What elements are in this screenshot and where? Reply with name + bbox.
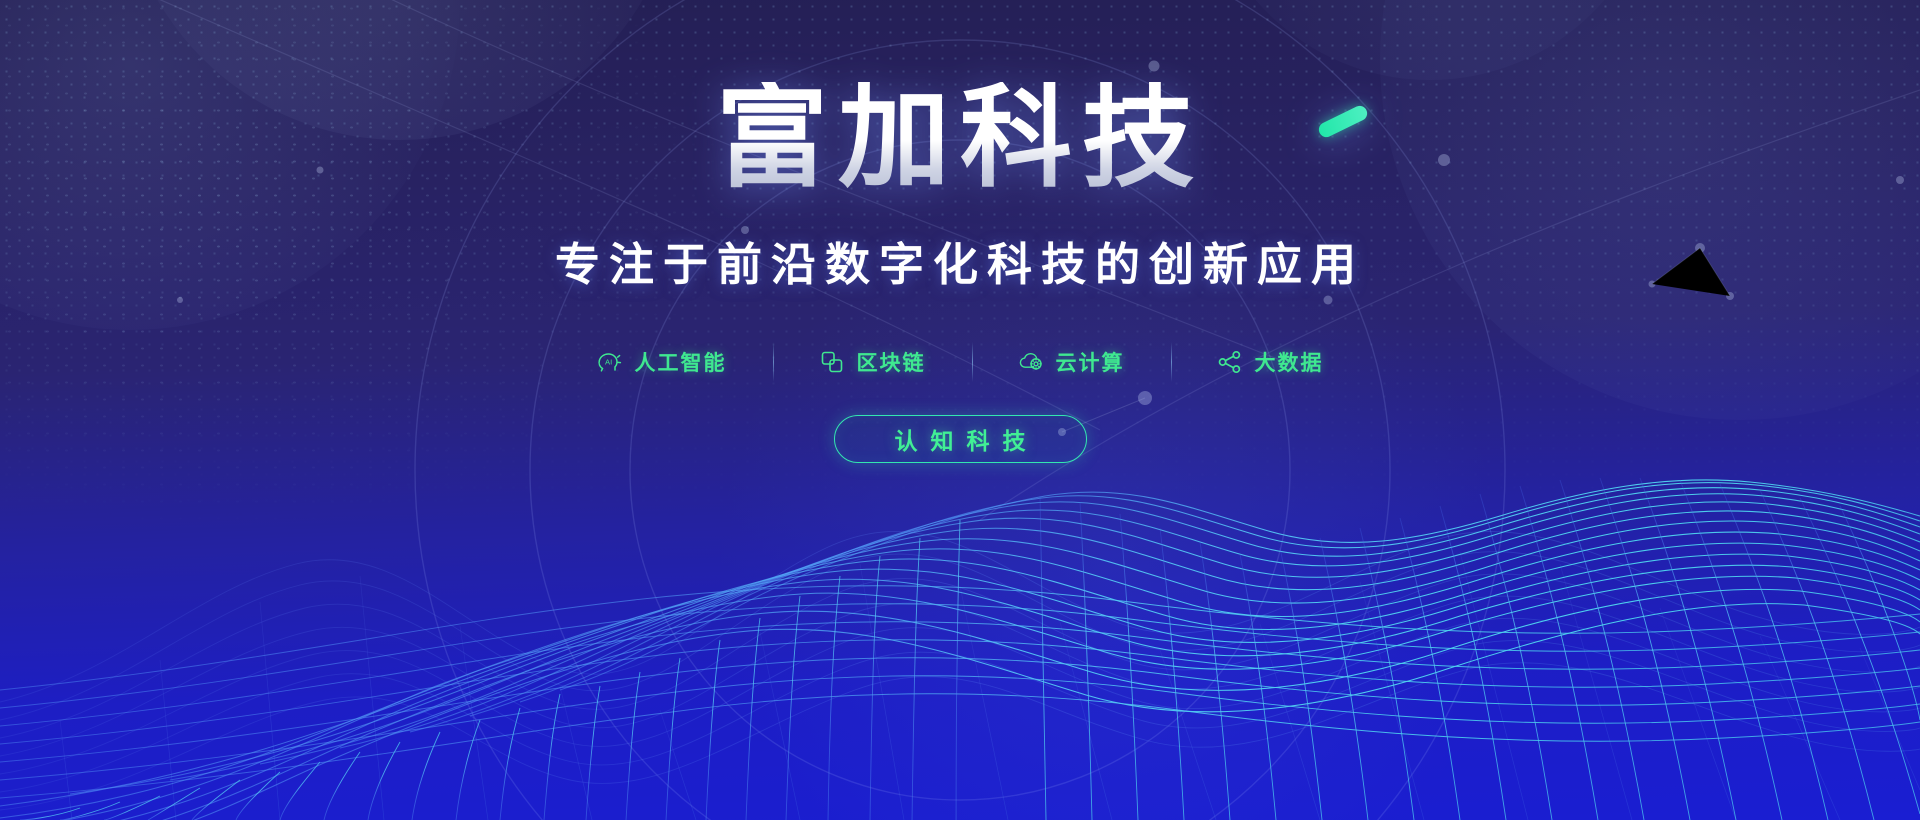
brand-logo-text: 富加科技: [716, 75, 1204, 200]
feature-tag-cloud[interactable]: 云计算: [972, 347, 1171, 377]
svg-text:AI: AI: [605, 357, 612, 366]
brand-logo: 富加科技: [716, 82, 1204, 194]
hero-subtitle: 专注于前沿数字化科技的创新应用: [555, 228, 1365, 293]
feature-tag-label: 区块链: [857, 347, 926, 377]
blockchain-icon: [819, 349, 845, 375]
hero-banner: 富加科技 专注于前沿数字化科技的创新应用 AI 人工智能: [0, 0, 1920, 820]
feature-tag-blockchain[interactable]: 区块链: [773, 347, 972, 377]
cta-button-label: 认知科技: [882, 422, 1039, 456]
hero-content: 富加科技 专注于前沿数字化科技的创新应用 AI 人工智能: [0, 0, 1920, 820]
cloud-gear-icon: [1018, 349, 1044, 375]
feature-tag-label: 大数据: [1255, 347, 1324, 377]
feature-tag-bigdata[interactable]: 大数据: [1171, 347, 1370, 377]
logo-accent-stroke: [1316, 103, 1369, 139]
feature-tag-label: 云计算: [1056, 347, 1125, 377]
feature-tag-ai[interactable]: AI 人工智能: [551, 347, 773, 377]
cta-button[interactable]: 认知科技: [834, 415, 1087, 463]
ai-head-icon: AI: [597, 349, 623, 375]
feature-tag-label: 人工智能: [635, 347, 727, 377]
feature-tag-list: AI 人工智能 区块链 云计算: [551, 347, 1370, 377]
share-nodes-icon: [1217, 349, 1243, 375]
